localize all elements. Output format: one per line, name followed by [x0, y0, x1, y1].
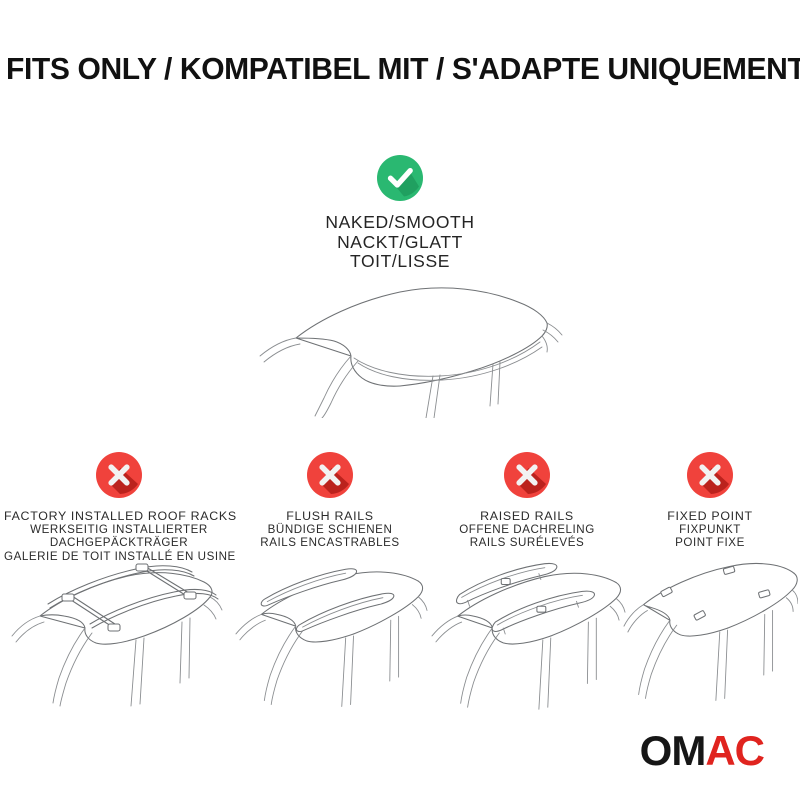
label-line-1: NAKED/SMOOTH: [0, 213, 800, 233]
incompatible-item-fixed-point: FIXED POINT FIXPUNKT POINT FIXE: [622, 452, 798, 550]
incompatible-item-raised-rails: RAISED RAILS OFFENE DACHRELING RAILS SUR…: [428, 452, 626, 550]
logo-text-om: OM: [640, 727, 706, 774]
compatible-roof-section: NAKED/SMOOTH NACKT/GLATT TOIT/LISSE: [0, 155, 800, 272]
car-roof-flush-rails-illustration: [232, 552, 428, 712]
label-line-2: BÜNDIGE SCHIENEN: [232, 523, 428, 536]
label-line-2: FIXPUNKT: [622, 523, 798, 536]
compatible-roof-label: NAKED/SMOOTH NACKT/GLATT TOIT/LISSE: [0, 213, 800, 272]
check-circle-icon: [377, 155, 423, 201]
x-circle-icon: [504, 452, 550, 498]
incompatible-label-fixed-point: FIXED POINT FIXPUNKT POINT FIXE: [622, 510, 798, 550]
label-line-3: TOIT/LISSE: [0, 252, 800, 272]
label-line-3: RAILS SURÉLEVÉS: [428, 536, 626, 549]
car-roof-raised-rails-illustration: [428, 552, 626, 712]
x-circle-icon: [96, 452, 142, 498]
car-roof-naked-smooth-illustration: [250, 278, 570, 418]
incompatible-item-flush-rails: FLUSH RAILS BÜNDIGE SCHIENEN RAILS ENCAS…: [232, 452, 428, 550]
car-roof-fixed-point-illustration: [622, 552, 798, 712]
incompatible-label-flush-rails: FLUSH RAILS BÜNDIGE SCHIENEN RAILS ENCAS…: [232, 510, 428, 550]
car-roof-factory-racks-illustration: [4, 548, 234, 708]
label-line-1: FLUSH RAILS: [232, 510, 428, 523]
icon-wrap: [622, 452, 798, 504]
label-line-1: FIXED POINT: [622, 510, 798, 523]
label-line-2: OFFENE DACHRELING: [428, 523, 626, 536]
label-line-3: POINT FIXE: [622, 536, 798, 549]
page-title: FITS ONLY / KOMPATIBEL MIT / S'ADAPTE UN…: [6, 52, 794, 87]
label-line-2: WERKSEITIG INSTALLIERTER: [4, 523, 234, 536]
x-circle-icon: [307, 452, 353, 498]
x-circle-icon: [687, 452, 733, 498]
label-line-1: FACTORY INSTALLED ROOF RACKS: [4, 510, 234, 523]
logo-text-ac: AC: [705, 727, 764, 774]
label-line-3: RAILS ENCASTRABLES: [232, 536, 428, 549]
label-line-1: RAISED RAILS: [428, 510, 626, 523]
label-line-2: NACKT/GLATT: [0, 233, 800, 253]
omac-logo: OMAC: [640, 730, 764, 772]
icon-wrap: [4, 452, 234, 504]
incompatible-label-raised-rails: RAISED RAILS OFFENE DACHRELING RAILS SUR…: [428, 510, 626, 550]
icon-wrap: [232, 452, 428, 504]
icon-wrap: [428, 452, 626, 504]
incompatible-item-factory-racks: FACTORY INSTALLED ROOF RACKS WERKSEITIG …: [4, 452, 234, 563]
